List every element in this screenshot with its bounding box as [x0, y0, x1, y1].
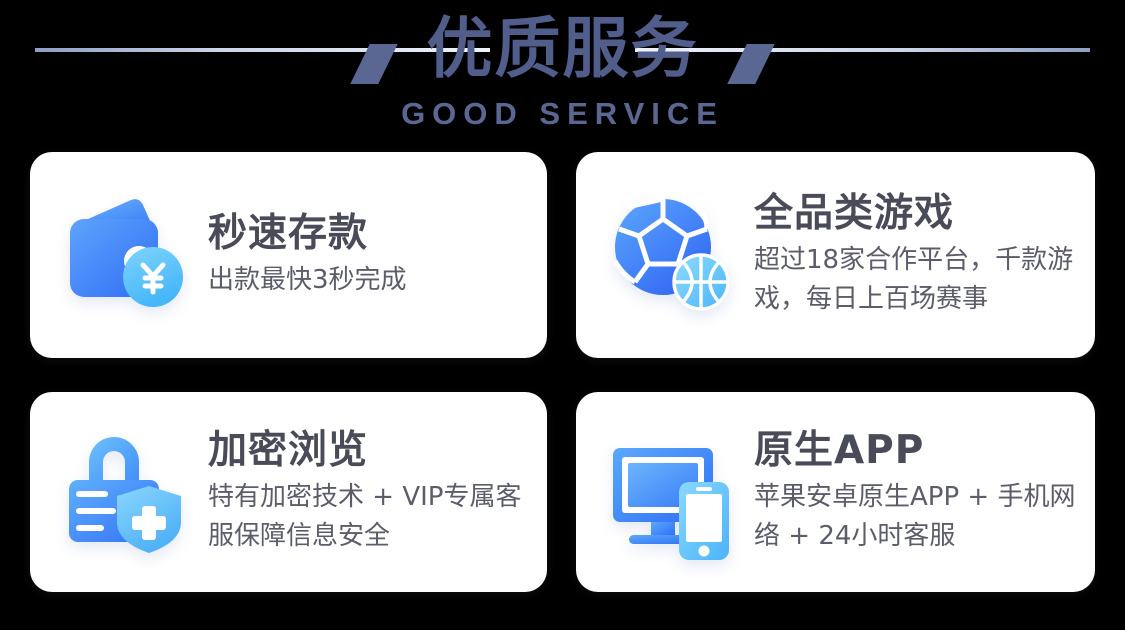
card-description: 特有加密技术 + VIP专属客服保障信息安全: [208, 478, 537, 556]
wallet-yen-icon: [52, 180, 202, 330]
card-text-deposit: 秒速存款 出款最快3秒完成: [202, 211, 417, 300]
page-title: 优质服务: [0, 10, 1125, 88]
card-description: 苹果安卓原生APP + 手机网络 + 24小时客服: [754, 478, 1084, 556]
card-description: 超过18家合作平台，千款游戏，每日上百场赛事: [754, 241, 1084, 319]
card-title: 全品类游戏: [754, 191, 1084, 237]
soccer-basketball-icon-svg: [603, 185, 743, 325]
card-row-1: 秒速存款 出款最快3秒完成: [0, 152, 1125, 358]
card-text-encryption: 加密浏览 特有加密技术 + VIP专属客服保障信息安全: [202, 428, 547, 556]
page-subtitle: GOOD SERVICE: [0, 96, 1125, 132]
monitor-phone-icon-svg: [603, 422, 743, 562]
wallet-yen-icon-svg: [57, 185, 197, 325]
lock-shield-icon: [52, 417, 202, 567]
card-row-2: 加密浏览 特有加密技术 + VIP专属客服保障信息安全: [0, 392, 1125, 592]
card-text-games: 全品类游戏 超过18家合作平台，千款游戏，每日上百场赛事: [748, 191, 1094, 319]
monitor-phone-icon: [598, 417, 748, 567]
feature-card-encryption[interactable]: 加密浏览 特有加密技术 + VIP专属客服保障信息安全: [30, 392, 547, 592]
lock-shield-icon-svg: [57, 422, 197, 562]
card-title: 加密浏览: [208, 428, 537, 474]
card-description: 出款最快3秒完成: [208, 261, 407, 300]
feature-card-native-app[interactable]: 原生APP 苹果安卓原生APP + 手机网络 + 24小时客服: [576, 392, 1095, 592]
feature-card-games[interactable]: 全品类游戏 超过18家合作平台，千款游戏，每日上百场赛事: [576, 152, 1095, 358]
feature-card-grid: 秒速存款 出款最快3秒完成: [0, 152, 1125, 592]
feature-card-deposit[interactable]: 秒速存款 出款最快3秒完成: [30, 152, 547, 358]
page-header: 优质服务 GOOD SERVICE: [0, 0, 1125, 150]
card-title: 秒速存款: [208, 211, 407, 257]
card-text-native-app: 原生APP 苹果安卓原生APP + 手机网络 + 24小时客服: [748, 428, 1094, 556]
soccer-basketball-icon: [598, 180, 748, 330]
card-title: 原生APP: [754, 428, 1084, 474]
